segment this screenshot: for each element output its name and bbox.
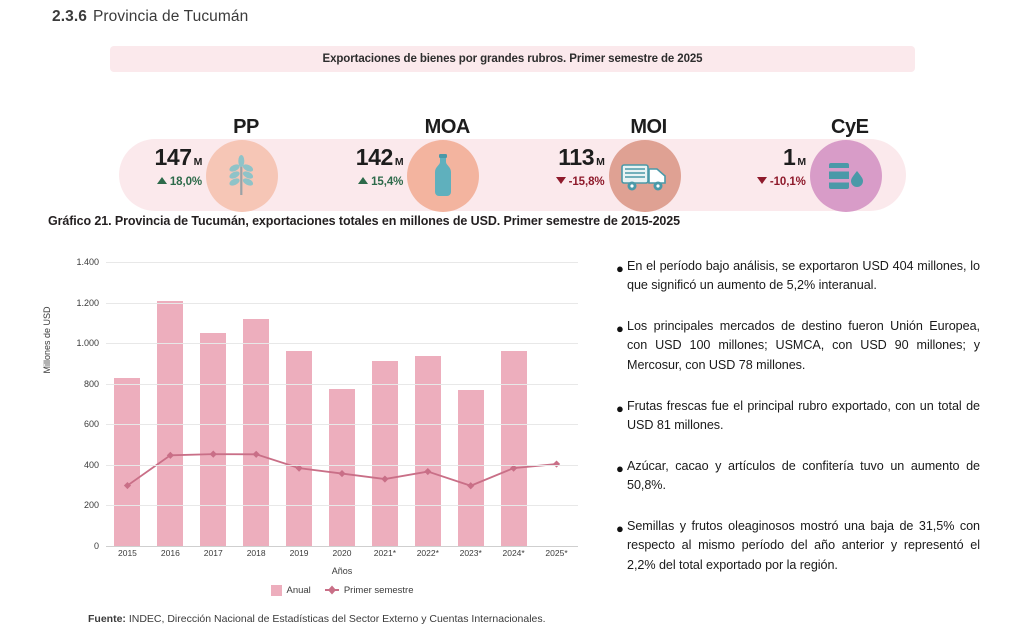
list-item: ●En el período bajo análisis, se exporta…	[616, 257, 980, 295]
rubro-icon-circle	[609, 140, 681, 212]
rubro-delta: -15,8%	[513, 176, 605, 188]
grid-line: 200	[106, 505, 578, 506]
line-marker	[424, 468, 431, 475]
rubro-value: 113M	[513, 146, 605, 169]
rubro-figures: 142M 15,4%	[311, 120, 407, 188]
source-label: Fuente:	[88, 613, 126, 625]
y-tick-label: 1.000	[76, 338, 99, 348]
bullet-dot-icon: ●	[616, 257, 627, 295]
bullet-dot-icon: ●	[616, 397, 627, 435]
report-page: 2.3.6Provincia de Tucumán Exportaciones …	[0, 0, 1024, 634]
chart-legend: AnualPrimer semestre	[106, 584, 578, 596]
rubro-delta: 18,0%	[110, 176, 202, 188]
rubro-icon-circle	[206, 140, 278, 212]
source-note: Fuente: INDEC, Dirección Nacional de Est…	[88, 613, 546, 625]
rubro-figures: 147M 18,0%	[110, 120, 206, 188]
legend-label: Primer semestre	[344, 585, 414, 596]
bullet-dot-icon: ●	[616, 317, 627, 374]
banner-title: Exportaciones de bienes por grandes rubr…	[110, 46, 915, 72]
exports-chart: Millones de USD 02004006008001.0001.2001…	[48, 250, 588, 610]
list-item: ●Semillas y frutos oleaginosos mostró un…	[616, 517, 980, 574]
y-tick-label: 600	[84, 419, 99, 429]
rubro-card-moi: MOI 113M -15,8%	[513, 120, 714, 216]
rubro-icon-circle	[810, 140, 882, 212]
rubro-unit: M	[192, 156, 202, 168]
x-tick-label: 2017	[192, 548, 235, 558]
rubro-delta: 15,4%	[311, 176, 403, 188]
rubro-label: MOA	[411, 116, 483, 139]
list-item: ●Azúcar, cacao y artículos de confitería…	[616, 457, 980, 495]
rubro-unit: M	[795, 156, 805, 168]
grid-line: 400	[106, 465, 578, 466]
rubro-label: PP	[210, 116, 282, 139]
legend-swatch-icon	[271, 585, 282, 596]
x-tick-label: 2021*	[363, 548, 406, 558]
y-tick-label: 800	[84, 379, 99, 389]
rubro-card-pp: PP 147M 18,0%	[110, 120, 311, 216]
section-number: 2.3.6	[52, 8, 87, 25]
x-tick-label: 2016	[149, 548, 192, 558]
list-item: ●Los principales mercados de destino fue…	[616, 317, 980, 374]
section-heading: 2.3.6Provincia de Tucumán	[52, 8, 248, 26]
rubro-icon-circle	[407, 140, 479, 212]
legend-diamond-icon	[325, 584, 339, 596]
x-tick-label: 2024*	[492, 548, 535, 558]
x-axis-title: Años	[106, 566, 578, 576]
legend-item[interactable]: Primer semestre	[325, 584, 414, 596]
line-marker	[381, 475, 388, 482]
source-text: INDEC, Dirección Nacional de Estadística…	[126, 613, 546, 625]
y-tick-label: 200	[84, 500, 99, 510]
bullet-text: Los principales mercados de destino fuer…	[627, 317, 980, 374]
list-item: ●Frutas frescas fue el principal rubro e…	[616, 397, 980, 435]
rubro-figures: 1M -10,1%	[714, 120, 810, 188]
triangle-down-icon	[757, 177, 767, 184]
rubro-value: 1M	[714, 146, 806, 169]
rubro-label: MOI	[613, 116, 685, 139]
findings-list: ●En el período bajo análisis, se exporta…	[616, 257, 980, 597]
chart-title: Gráfico 21. Provincia de Tucumán, export…	[48, 214, 680, 228]
rubro-card-moa: MOA 142M 15,4%	[311, 120, 512, 216]
line-marker	[210, 451, 217, 458]
bottle-icon	[429, 154, 457, 198]
rubro-label: CyE	[814, 116, 886, 139]
legend-label: Anual	[287, 585, 311, 596]
line-marker	[338, 470, 345, 477]
grid-line: 0	[106, 546, 578, 547]
first-semester-line	[106, 262, 578, 546]
y-axis-title: Millones de USD	[42, 280, 52, 400]
line-path	[127, 454, 556, 486]
x-tick-label: 2022*	[406, 548, 449, 558]
rubros-list: PP 147M 18,0%	[110, 120, 915, 216]
x-axis-labels: 2015201620172018201920202021*2022*2023*2…	[106, 548, 578, 558]
bullet-text: Frutas frescas fue el principal rubro ex…	[627, 397, 980, 435]
rubro-value: 147M	[110, 146, 202, 169]
triangle-down-icon	[556, 177, 566, 184]
rubro-value: 142M	[311, 146, 403, 169]
rubro-unit: M	[393, 156, 403, 168]
bullet-text: Semillas y frutos oleaginosos mostró una…	[627, 517, 980, 574]
grid-line: 600	[106, 424, 578, 425]
page-title: Provincia de Tucumán	[87, 8, 248, 25]
x-tick-label: 2025*	[535, 548, 578, 558]
bullet-dot-icon: ●	[616, 457, 627, 495]
x-tick-label: 2020	[321, 548, 364, 558]
fuel-drum-icon	[826, 157, 866, 195]
chart-plot-area: 02004006008001.0001.2001.400	[106, 262, 578, 546]
rubros-banner: Exportaciones de bienes por grandes rubr…	[110, 46, 915, 176]
grid-line: 1.000	[106, 343, 578, 344]
bullet-text: Azúcar, cacao y artículos de confitería …	[627, 457, 980, 495]
line-marker	[467, 482, 474, 489]
y-tick-label: 1.200	[76, 298, 99, 308]
grid-line: 800	[106, 384, 578, 385]
triangle-up-icon	[358, 177, 368, 184]
truck-icon	[621, 159, 669, 193]
line-marker	[253, 451, 260, 458]
rubro-delta: -10,1%	[714, 176, 806, 188]
y-tick-label: 1.400	[76, 257, 99, 267]
bullet-dot-icon: ●	[616, 517, 627, 574]
bullet-text: En el período bajo análisis, se exportar…	[627, 257, 980, 295]
x-tick-label: 2015	[106, 548, 149, 558]
rubro-unit: M	[594, 156, 604, 168]
rubro-figures: 113M -15,8%	[513, 120, 609, 188]
triangle-up-icon	[157, 177, 167, 184]
x-tick-label: 2023*	[449, 548, 492, 558]
x-tick-label: 2018	[235, 548, 278, 558]
grid-line: 1.400	[106, 262, 578, 263]
rubro-card-cye: CyE 1M -10,1%	[714, 120, 915, 216]
wheat-icon	[223, 155, 261, 197]
y-tick-label: 400	[84, 460, 99, 470]
y-tick-label: 0	[94, 541, 99, 551]
x-tick-label: 2019	[278, 548, 321, 558]
grid-line: 1.200	[106, 303, 578, 304]
legend-item[interactable]: Anual	[271, 585, 311, 596]
